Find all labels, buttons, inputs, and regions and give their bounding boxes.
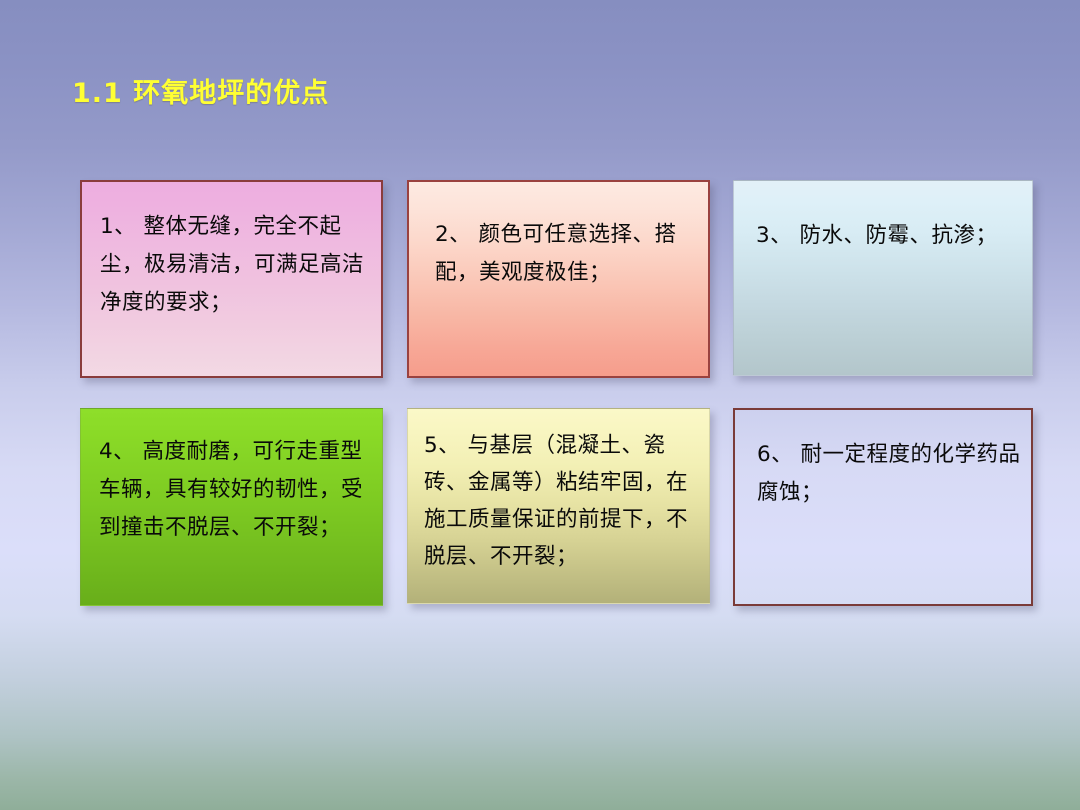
slide-canvas: 1.1 环氧地坪的优点 1、 整体无缝，完全不起尘，极易清洁，可满足高洁净度的要…	[0, 0, 1080, 810]
advantage-card-2[interactable]: 2、 颜色可任意选择、搭配，美观度极佳；	[407, 180, 710, 378]
advantage-card-6[interactable]: 6、 耐一定程度的化学药品腐蚀；	[733, 408, 1033, 606]
advantage-card-4[interactable]: 4、 高度耐磨，可行走重型车辆，具有较好的韧性，受到撞击不脱层、不开裂；	[80, 408, 383, 606]
advantage-card-1-text: 1、 整体无缝，完全不起尘，极易清洁，可满足高洁净度的要求；	[100, 208, 371, 322]
advantage-card-1[interactable]: 1、 整体无缝，完全不起尘，极易清洁，可满足高洁净度的要求；	[80, 180, 383, 378]
advantage-card-3[interactable]: 3、 防水、防霉、抗渗；	[733, 180, 1033, 376]
advantage-card-6-text: 6、 耐一定程度的化学药品腐蚀；	[757, 436, 1021, 512]
advantage-card-5-text: 5、 与基层（混凝土、瓷砖、金属等）粘结牢固，在施工质量保证的前提下，不脱层、不…	[424, 427, 699, 575]
advantage-card-5[interactable]: 5、 与基层（混凝土、瓷砖、金属等）粘结牢固，在施工质量保证的前提下，不脱层、不…	[407, 408, 710, 604]
page-title: 1.1 环氧地坪的优点	[72, 71, 329, 110]
advantage-card-3-text: 3、 防水、防霉、抗渗；	[756, 217, 1022, 255]
advantage-card-2-text: 2、 颜色可任意选择、搭配，美观度极佳；	[435, 216, 698, 292]
advantage-card-4-text: 4、 高度耐磨，可行走重型车辆，具有较好的韧性，受到撞击不脱层、不开裂；	[99, 433, 372, 547]
